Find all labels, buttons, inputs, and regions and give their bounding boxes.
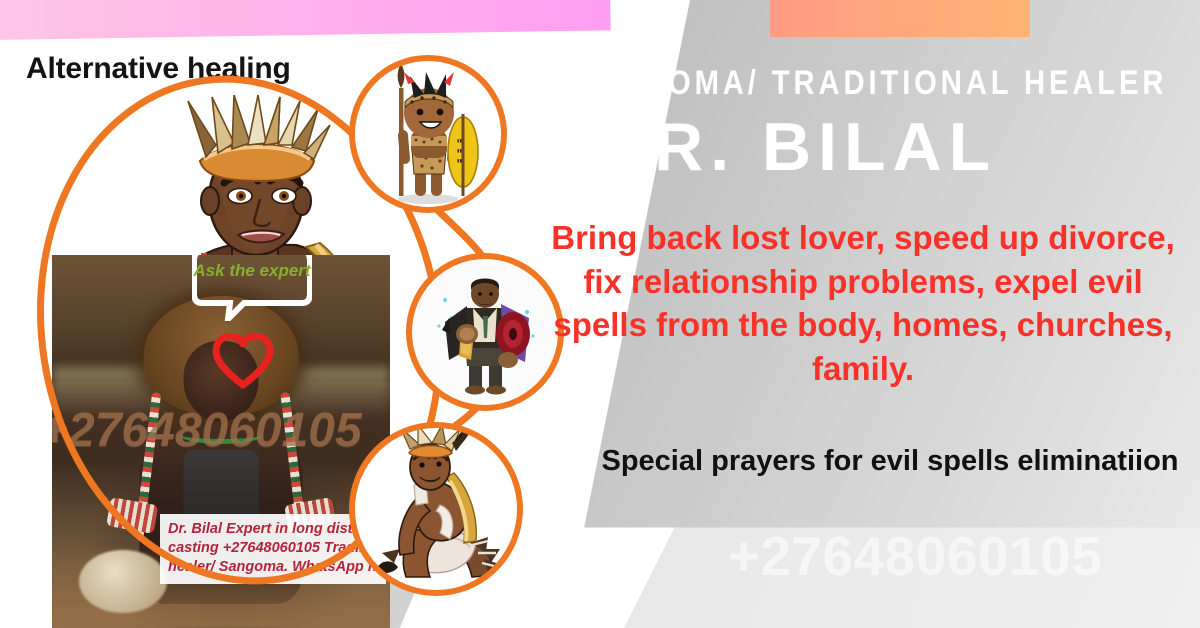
caption-line-3: healer/ Sangoma. WhatsApp n [168,558,378,577]
speech-bubble: Ask the expert [192,255,312,321]
heart-icon [212,333,274,389]
photo-phone-overlay: +27648060105 [52,403,362,458]
speech-bubble-text: Ask the expert [192,261,312,282]
healer-photograph: Ask the expert +27648060105 Dr. Bilal Ex… [52,255,390,628]
photo-calabash-bowl [79,550,167,613]
phone-watermark: +27648060105 [640,524,1190,588]
thumbnail-ring-1 [349,55,507,213]
orange-accent-bar [770,0,1030,37]
brand-name: DR. BILAL [598,108,1198,186]
thumbnail-ring-2 [406,253,564,411]
poster-canvas: Alternative healing [0,0,1200,628]
services-text: Bring back lost lover, speed up divorce,… [548,216,1178,390]
kicker-text: SANGOMA/ TRADITIONAL HEALER [568,64,1093,103]
caption-line-1: Dr. Bilal Expert in long distan [168,520,378,539]
page-title: Alternative healing [26,52,291,86]
thumbnail-ring-3 [349,422,523,596]
caption-line-2: casting +27648060105 Tradih [168,539,378,558]
special-offer-text: Special prayers for evil spells eliminat… [600,443,1180,480]
